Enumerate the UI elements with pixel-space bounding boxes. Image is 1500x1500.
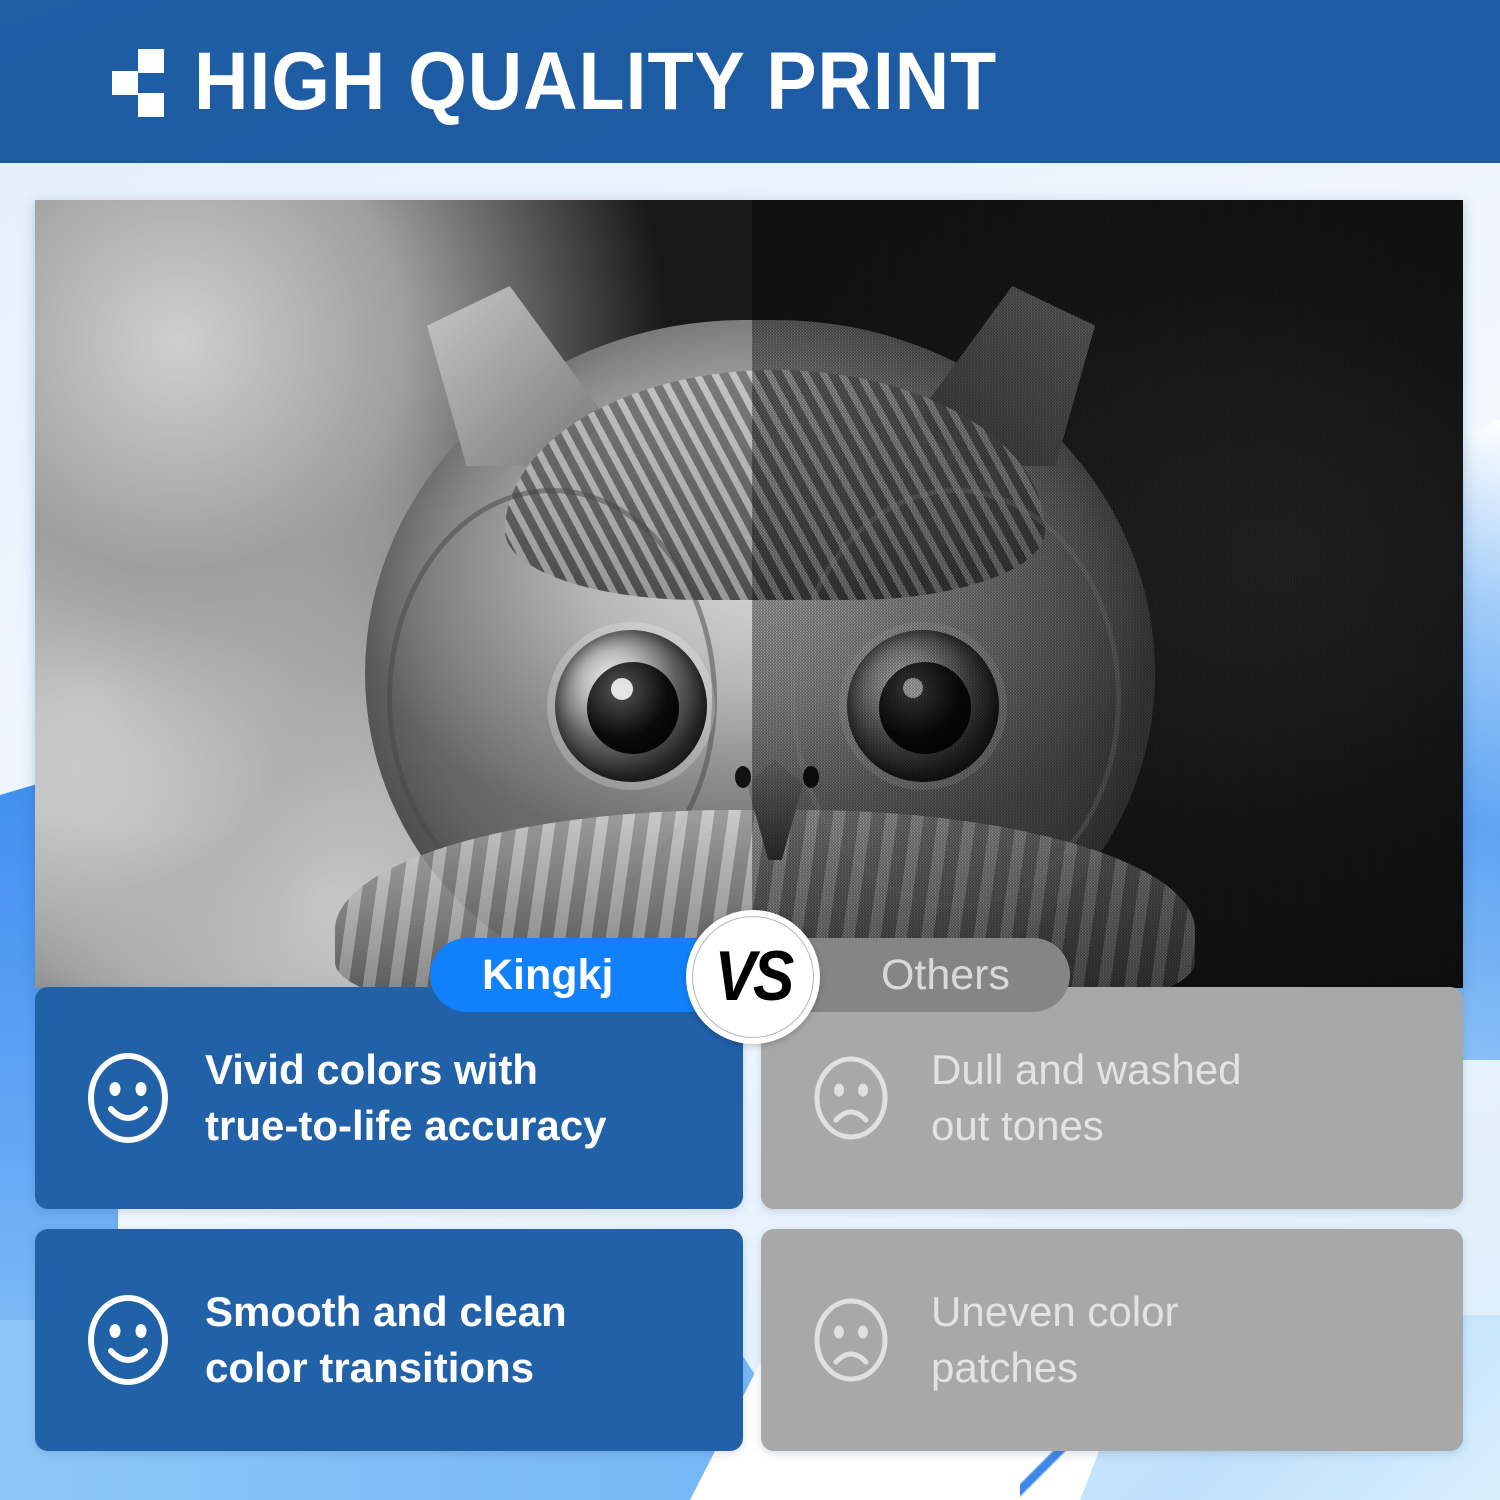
- card-good-1: Vivid colors with true-to-life accuracy: [35, 987, 743, 1209]
- smiley-face-icon: [87, 1053, 169, 1143]
- logo-square-top: [138, 49, 164, 73]
- card-bad-2-text: Uneven color patches: [931, 1284, 1178, 1397]
- card-bad-2: Uneven color patches: [761, 1229, 1463, 1451]
- owl-nostril-left: [735, 766, 751, 788]
- photo-half-good: [35, 200, 752, 988]
- sad-face-icon: [813, 1056, 889, 1140]
- three-squares-logo-icon: [112, 49, 168, 115]
- logo-square-bottom: [138, 93, 164, 117]
- vs-badge-label: VS: [715, 942, 792, 1013]
- header-banner: HIGH QUALITY PRINT: [0, 0, 1500, 163]
- owl-pupil-left: [587, 662, 679, 754]
- promo-graphic-root: HIGH QUALITY PRINT: [0, 0, 1500, 1500]
- owl-eye-glint-left: [611, 678, 633, 700]
- logo-square-left: [112, 71, 138, 95]
- sad-face-icon: [813, 1298, 889, 1382]
- owl-scene-grainy: [752, 200, 1463, 988]
- owl-eye-glint-right: [903, 678, 923, 698]
- vs-badge-icon: VS: [686, 910, 820, 1044]
- owl-nostril-right: [803, 766, 819, 788]
- smiley-face-icon: [87, 1295, 169, 1385]
- card-good-2: Smooth and clean color transitions: [35, 1229, 743, 1451]
- card-bad-1-text: Dull and washed out tones: [931, 1042, 1242, 1155]
- card-good-2-text: Smooth and clean color transitions: [205, 1284, 567, 1397]
- card-bad-1: Dull and washed out tones: [761, 987, 1463, 1209]
- owl-pupil-right: [879, 662, 971, 754]
- comparison-photo: [35, 200, 1463, 988]
- comparison-card-grid: Vivid colors with true-to-life accuracy …: [35, 987, 1463, 1451]
- card-good-1-text: Vivid colors with true-to-life accuracy: [205, 1042, 606, 1155]
- brand-pill-label: Kingkj: [482, 954, 613, 997]
- others-pill-label: Others: [881, 954, 1010, 997]
- photo-half-bad: [752, 200, 1463, 988]
- owl-scene-clean: [35, 200, 752, 988]
- page-title: HIGH QUALITY PRINT: [194, 41, 997, 123]
